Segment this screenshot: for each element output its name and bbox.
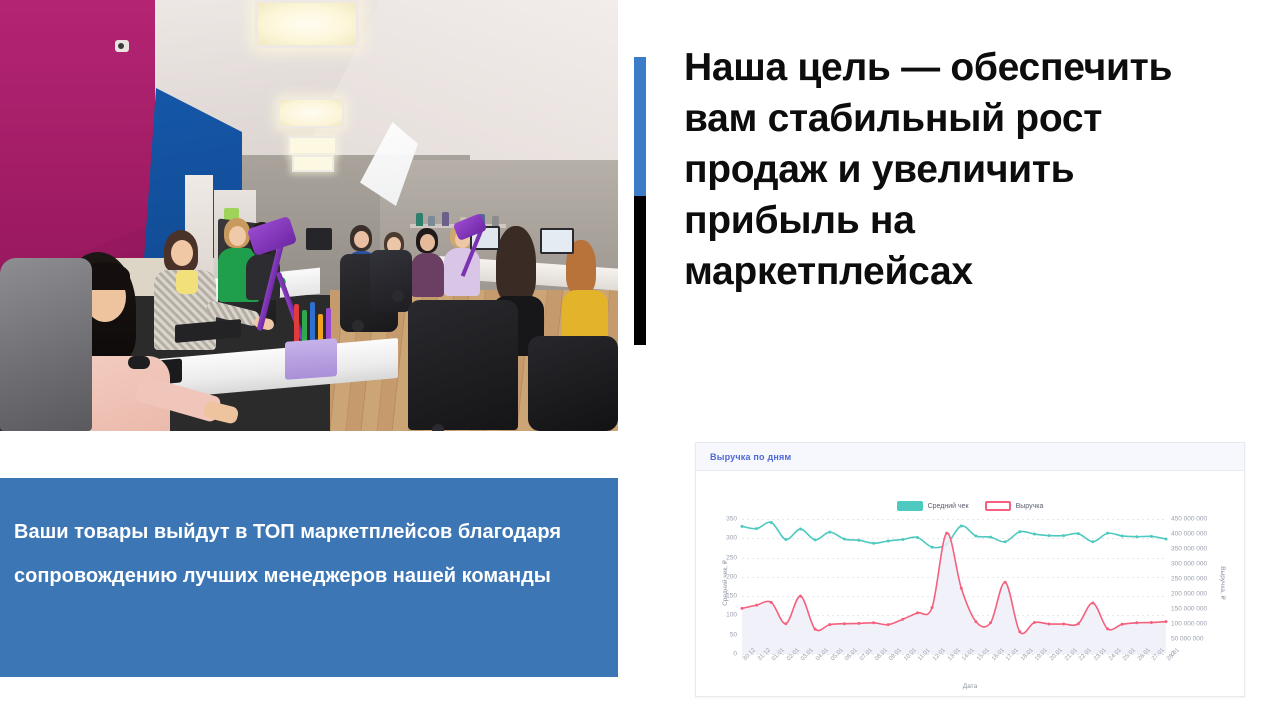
series-point[interactable] [1004,581,1007,584]
y2-tick-label: 400 000 000 [1171,531,1207,538]
y-tick-label: 0 [733,651,737,658]
photo-monitor-far-1 [306,228,332,250]
photo-chair-5 [370,250,412,312]
series-point[interactable] [814,628,817,631]
photo-chair-4 [528,336,618,431]
series-point[interactable] [784,622,787,625]
series-point[interactable] [960,587,963,590]
series-point[interactable] [887,623,890,626]
series-point[interactable] [1150,535,1153,538]
series-point[interactable] [989,621,992,624]
series-line-0 [742,522,1166,547]
series-point[interactable] [843,538,846,541]
y-tick-label: 150 [726,593,737,600]
series-point[interactable] [1121,534,1124,537]
slide: Наша цель — обеспечить вам стабильный ро… [0,0,1280,719]
series-point[interactable] [770,601,773,604]
y2-tick-label: 50 000 000 [1171,636,1204,643]
series-point[interactable] [989,536,992,539]
series-point[interactable] [1165,538,1168,541]
series-point[interactable] [974,620,977,623]
series-point[interactable] [1091,540,1094,543]
series-point[interactable] [1135,535,1138,538]
callout-box: Ваши товары выйдут в ТОП маркетплейсов б… [0,478,618,677]
legend-label-revenue: Выручка [1016,503,1044,510]
series-point[interactable] [901,538,904,541]
photo-ceiling-light-1 [255,0,359,48]
series-point[interactable] [1106,532,1109,535]
series-point[interactable] [741,607,744,610]
y-tick-label: 250 [726,554,737,561]
y2-tick-label: 100 000 000 [1171,621,1207,628]
photo-ceiling-light-3 [288,136,337,155]
y-tick-label: 300 [726,535,737,542]
page-title: Наша цель — обеспечить вам стабильный ро… [684,42,1184,297]
photo-monitor-far-3 [540,228,574,254]
office-photo [0,0,618,431]
series-point[interactable] [1121,623,1124,626]
legend-label-avg-check: Средний чек [928,503,969,510]
photo-ceiling-light-2 [278,98,344,128]
series-point[interactable] [799,528,802,531]
photo-pen-holder [285,338,337,380]
y-tick-label: 100 [726,612,737,619]
series-point[interactable] [828,623,831,626]
series-point[interactable] [1048,534,1051,537]
series-point[interactable] [1135,621,1138,624]
photo-ceiling-light-4 [292,155,334,172]
series-point[interactable] [1062,623,1065,626]
series-point[interactable] [799,595,802,598]
series-point[interactable] [784,538,787,541]
chart-plot-area: 050100150200250300350050 000 000100 000 … [742,519,1166,654]
series-point[interactable] [1077,532,1080,535]
chart-legend: Средний чек Выручка [696,501,1244,511]
series-point[interactable] [770,521,773,524]
photo-chair-1 [0,258,92,431]
revenue-dashboard-card: Выручка по дням Средний чек Выручка Сред… [695,442,1245,697]
series-point[interactable] [1091,602,1094,605]
card-header: Выручка по дням [696,443,1244,471]
photo-chair-2 [408,300,518,430]
y2-axis-title: Выручка, ₽ [1219,566,1227,600]
series-point[interactable] [931,546,934,549]
series-point[interactable] [1033,533,1036,536]
y2-tick-label: 250 000 000 [1171,576,1207,583]
series-point[interactable] [1106,627,1109,630]
series-point[interactable] [901,618,904,621]
series-point[interactable] [755,604,758,607]
accent-bar-black [634,196,646,345]
legend-swatch-revenue [985,501,1011,511]
photo-chair-wheel-1 [392,290,404,302]
x-axis-title: Дата [696,683,1244,690]
legend-item-revenue[interactable]: Выручка [985,501,1044,511]
y2-tick-label: 200 000 000 [1171,591,1207,598]
photo-mouse [128,356,150,369]
series-point[interactable] [1062,534,1065,537]
series-point[interactable] [741,525,744,528]
card-body: Средний чек Выручка Средний чек, ₽ Выруч… [696,471,1244,695]
legend-swatch-avg-check [897,501,923,511]
card-title: Выручка по дням [710,452,791,462]
series-point[interactable] [1033,621,1036,624]
y2-tick-label: 150 000 000 [1171,606,1207,613]
series-point[interactable] [916,611,919,614]
photo-chair-wheel-2 [432,424,444,431]
series-point[interactable] [1018,630,1021,633]
series-point[interactable] [1004,540,1007,543]
series-point[interactable] [814,538,817,541]
series-point[interactable] [857,622,860,625]
photo-chair-wheel-3 [352,320,364,332]
series-point[interactable] [1077,622,1080,625]
y-tick-label: 200 [726,573,737,580]
series-point[interactable] [1165,620,1168,623]
y2-tick-label: 450 000 000 [1171,516,1207,523]
y-tick-label: 350 [726,516,737,523]
series-point[interactable] [755,527,758,530]
series-point[interactable] [916,536,919,539]
series-point[interactable] [1018,530,1021,533]
series-point[interactable] [960,524,963,527]
series-point[interactable] [857,539,860,542]
series-point[interactable] [828,531,831,534]
callout-text: Ваши товары выйдут в ТОП маркетплейсов б… [14,510,604,598]
series-point[interactable] [945,532,948,535]
x-tick-label: 28.01 [1166,647,1181,662]
series-point[interactable] [887,539,890,542]
series-point[interactable] [974,534,977,537]
y-tick-label: 50 [730,631,737,638]
series-point[interactable] [931,606,934,609]
series-point[interactable] [843,622,846,625]
photo-security-camera [115,40,129,52]
legend-item-avg-check[interactable]: Средний чек [897,501,969,511]
series-point[interactable] [1150,621,1153,624]
accent-bar-blue [634,57,646,196]
chart-series-svg [742,519,1166,654]
y2-tick-label: 300 000 000 [1171,561,1207,568]
series-point[interactable] [872,542,875,545]
y2-tick-label: 350 000 000 [1171,546,1207,553]
series-point[interactable] [872,621,875,624]
series-point[interactable] [1048,623,1051,626]
